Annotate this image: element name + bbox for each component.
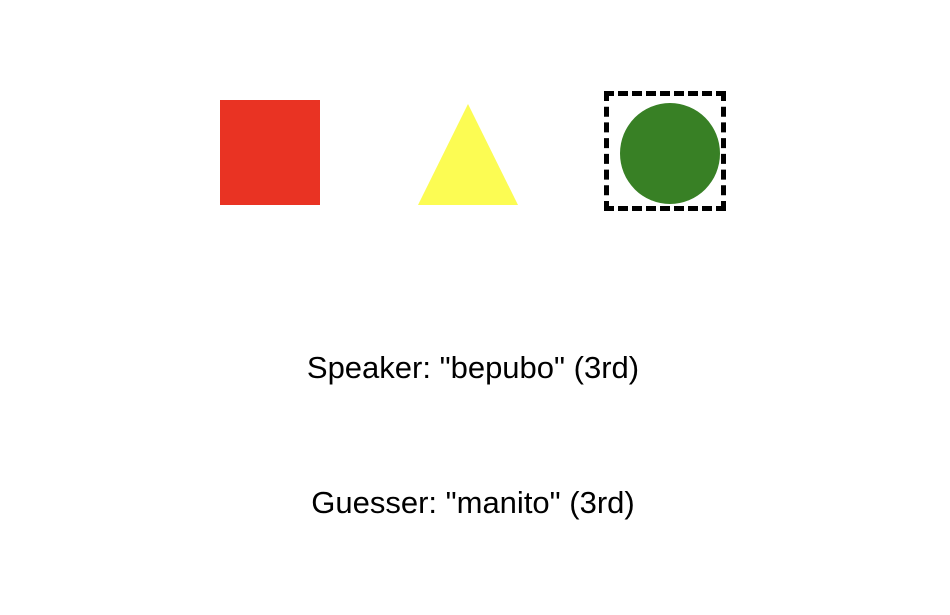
green-circle-shape[interactable] [620, 103, 720, 204]
yellow-triangle-shape[interactable] [418, 104, 518, 205]
shape-reference-game-canvas: Speaker: "bepubo" (3rd) Guesser: "manito… [0, 0, 950, 456]
red-square-shape[interactable] [220, 100, 320, 205]
triangle-icon [418, 104, 518, 205]
shape-slot-3[interactable] [604, 88, 734, 218]
shape-slot-1[interactable] [205, 88, 335, 218]
guesser-utterance-line: Guesser: "manito" (3rd) [0, 480, 948, 525]
shape-row [0, 88, 950, 218]
speaker-utterance-line: Speaker: "bepubo" (3rd) [0, 345, 948, 390]
caption-block: Speaker: "bepubo" (3rd) Guesser: "manito… [0, 255, 950, 615]
shape-slot-2[interactable] [403, 88, 533, 218]
